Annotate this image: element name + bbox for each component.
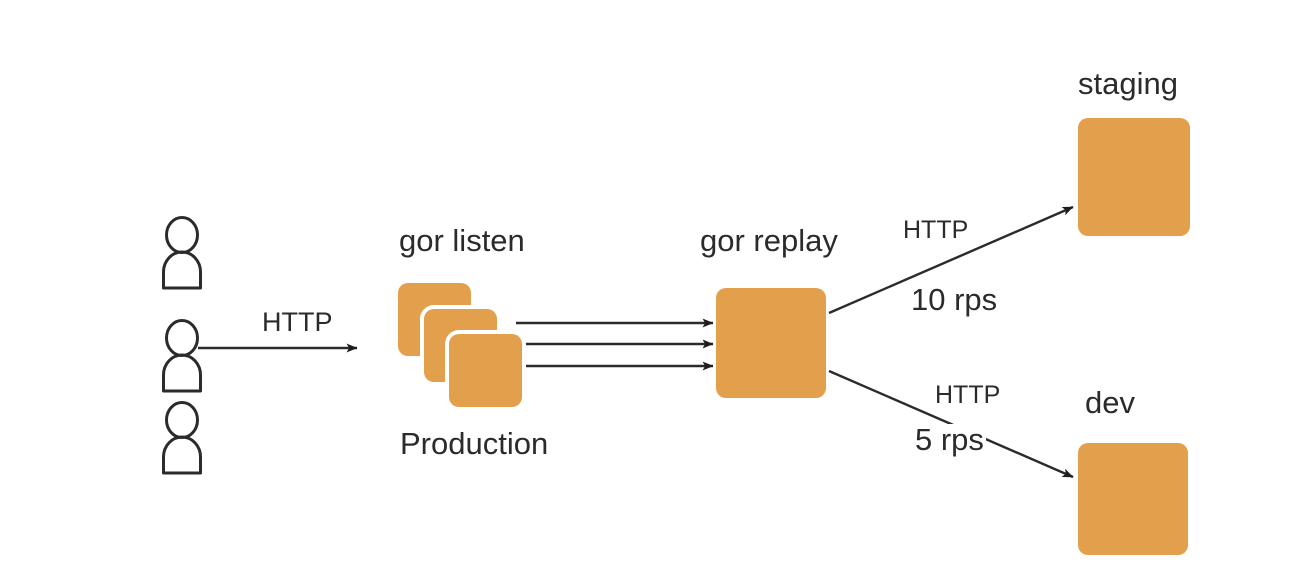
edge-label-client-http: HTTP [262,309,333,336]
diagram-canvas: HTTP gor listen Production gor replay st… [0,0,1316,574]
gor-replay-title: gor replay [700,225,838,256]
gor-listen-title: gor listen [399,225,525,256]
gor-replay-node[interactable] [716,288,826,398]
staging-title: staging [1078,68,1178,99]
edge-label-staging-http: HTTP [903,218,968,243]
production-title: Production [400,428,548,459]
dev-node[interactable] [1078,443,1188,555]
edge-label-dev-rate: 5 rps [913,424,986,455]
staging-node[interactable] [1078,118,1190,236]
user-icon [164,403,201,474]
edge-label-dev-http: HTTP [933,383,1002,408]
user-icon [164,321,201,392]
edge-label-staging-rate: 10 rps [909,284,999,315]
dev-title: dev [1085,387,1135,418]
gor-listen-instance-3[interactable] [449,334,522,407]
user-icon [164,218,201,289]
